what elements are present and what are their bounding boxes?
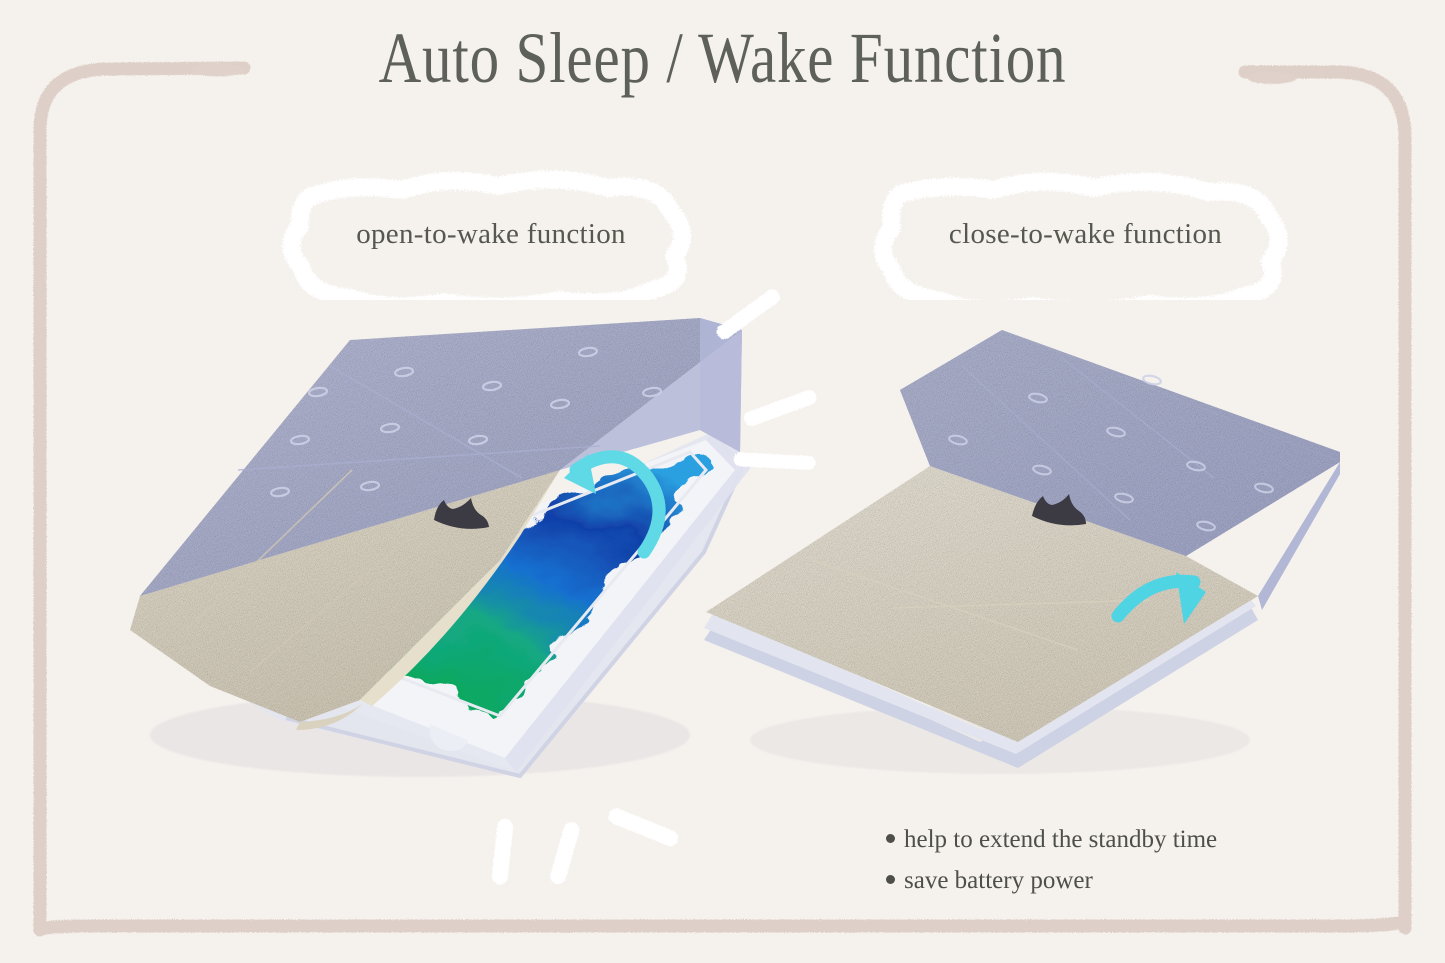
bullet-dot-icon [886, 834, 895, 843]
motion-lines-bottom [491, 806, 681, 886]
benefit-text: save battery power [904, 861, 1093, 902]
label-close-to-wake-text: close-to-wake function [949, 218, 1222, 251]
list-item: save battery power [886, 861, 1217, 902]
product-closed-case [704, 330, 1340, 774]
motion-lines-right [714, 287, 819, 471]
label-bubble-close-to-wake: close-to-wake function [838, 168, 1333, 300]
list-item: help to extend the standby time [886, 820, 1217, 861]
page-title: Auto Sleep / Wake Function [130, 22, 1315, 94]
product-open-case [130, 318, 752, 777]
benefit-list: help to extend the standby time save bat… [886, 820, 1217, 901]
close-arrow-icon [1118, 572, 1206, 624]
poster-canvas: Auto Sleep / Wake Function open-to-wake … [0, 0, 1445, 963]
cat-icon [434, 498, 489, 529]
decorative-frame [0, 0, 1445, 963]
label-open-to-wake-text: open-to-wake function [356, 218, 626, 251]
open-arrow-icon [564, 454, 659, 552]
bullet-dot-icon [886, 875, 895, 884]
benefit-text: help to extend the standby time [904, 820, 1217, 861]
cat-icon [1032, 494, 1086, 525]
label-bubble-open-to-wake: open-to-wake function [252, 168, 730, 300]
